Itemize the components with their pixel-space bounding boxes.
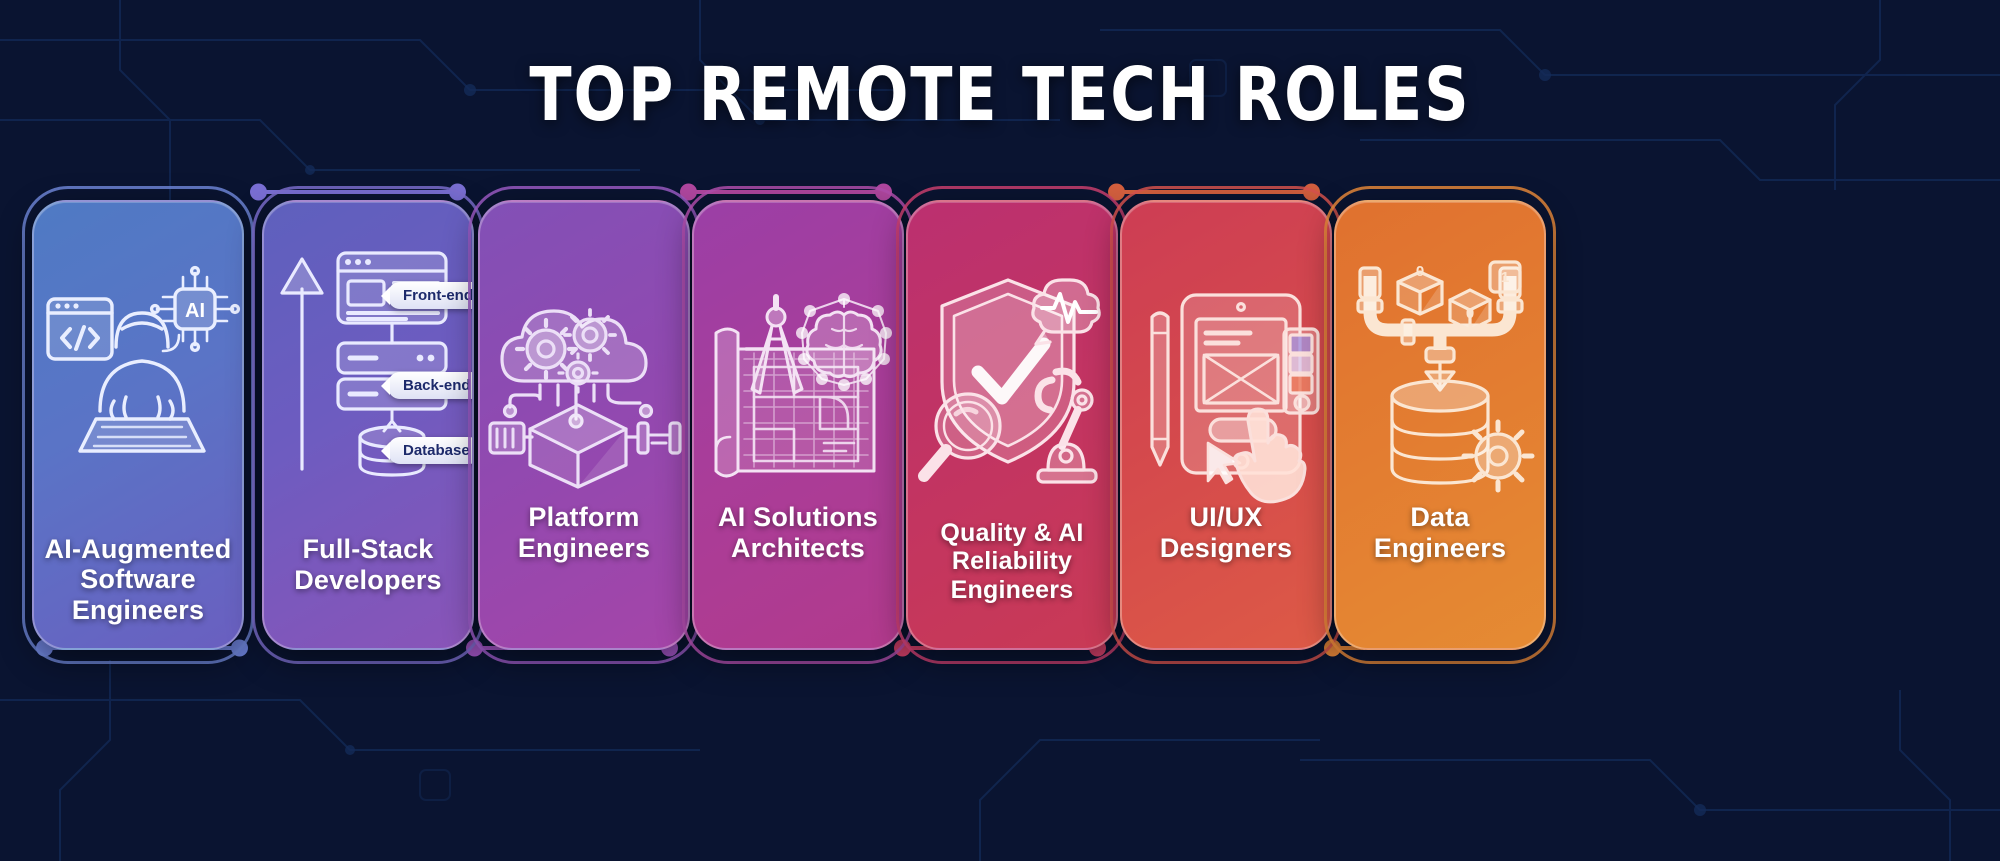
card-label: Platform Engineers — [518, 502, 650, 626]
card-label-line: Architects — [718, 533, 878, 564]
magnifier-icon — [924, 394, 1000, 476]
connector-dot-left — [250, 184, 267, 201]
card-label: UI/UX Designers — [1160, 502, 1292, 626]
card-body: UI/UX Designers — [1120, 200, 1332, 650]
card-label-line: Quality & AI — [940, 519, 1083, 548]
card-body: Platform Engineers — [478, 200, 690, 650]
card-ai-solutions-architects[interactable]: AI Solutions Architects — [692, 200, 904, 650]
card-body: AI AI-Augmented Software Engineers — [32, 200, 244, 650]
card-label-line: Engineers — [1374, 533, 1506, 564]
blueprint-compass-and-neural-brain-icon — [694, 268, 902, 498]
card-label-line: Engineers — [940, 576, 1083, 605]
card-body: Front-end Back-end Database Full-Stack D… — [262, 200, 474, 650]
shield-check-with-magnifier-and-robot-arm-icon — [908, 260, 1116, 500]
cube-digit: 0 — [1466, 305, 1474, 322]
card-label: AI-Augmented Software Engineers — [45, 534, 232, 626]
card-ui-ux-designers[interactable]: UI/UX Designers — [1120, 200, 1332, 650]
tablet-wireframe-with-stylus-and-cursor-icon — [1122, 268, 1330, 498]
roles-card-row: AI AI-Augmented Software Engineers — [22, 200, 1978, 650]
badge-label: Database — [403, 442, 470, 459]
card-label-line: Data — [1374, 502, 1506, 533]
card-label-line: Engineers — [518, 533, 650, 564]
cube-container-icon — [530, 405, 626, 487]
card-label-line: Engineers — [45, 595, 232, 626]
card-label-line: Software — [45, 564, 232, 595]
card-label-line: Reliability — [940, 547, 1083, 576]
badge-label: Back-end — [403, 377, 471, 394]
card-label: Quality & AI Reliability Engineers — [940, 519, 1083, 627]
ai-chip-label: AI — [185, 300, 205, 322]
code-window-icon — [48, 299, 112, 359]
card-ai-augmented-software-engineers[interactable]: AI AI-Augmented Software Engineers — [32, 200, 244, 650]
data-pipeline-with-database-icon: 0 0 1 — [1336, 258, 1544, 498]
card-label-line: Developers — [294, 565, 442, 596]
developer-at-keyboard-with-ai-chip-icon: AI — [34, 236, 242, 476]
page-title: TOP REMOTE TECH ROLES — [70, 52, 1930, 138]
card-label-line: UI/UX — [1160, 502, 1292, 533]
card-body: AI Solutions Architects — [692, 200, 904, 650]
card-label-line: AI Solutions — [718, 502, 878, 533]
badge-front-end: Front-end — [388, 282, 474, 309]
card-quality-and-ai-reliability-engineers[interactable]: Quality & AI Reliability Engineers — [906, 200, 1118, 650]
cloud-with-gears-and-container-icon — [480, 272, 688, 492]
gear-icon — [1464, 422, 1532, 490]
card-data-engineers[interactable]: 0 0 1 Data Engineers — [1334, 200, 1546, 650]
cube-digit: 0 — [1416, 263, 1424, 280]
card-label: Full-Stack Developers — [294, 534, 442, 626]
infographic-canvas: TOP REMOTE TECH ROLES — [0, 0, 2000, 861]
card-label-line: AI-Augmented — [45, 534, 232, 565]
badge-database: Database — [388, 437, 474, 464]
card-label: Data Engineers — [1374, 502, 1506, 626]
badge-back-end: Back-end — [388, 372, 474, 399]
pencil-icon — [1152, 313, 1168, 465]
badge-label: Front-end — [403, 287, 473, 304]
keyboard-icon — [80, 419, 204, 451]
card-body: 0 0 1 Data Engineers — [1334, 200, 1546, 650]
card-label-line: Platform — [518, 502, 650, 533]
cube-digit: 1 — [1501, 269, 1509, 286]
card-platform-engineers[interactable]: Platform Engineers — [478, 200, 690, 650]
hands-icon — [111, 397, 173, 419]
color-swatch-icon — [1284, 329, 1318, 413]
card-full-stack-developers[interactable]: Front-end Back-end Database Full-Stack D… — [262, 200, 474, 650]
card-label-line: Full-Stack — [294, 534, 442, 565]
card-label: AI Solutions Architects — [718, 502, 878, 626]
up-arrow-icon — [282, 259, 322, 469]
card-body: Quality & AI Reliability Engineers — [906, 200, 1118, 650]
card-label-line: Designers — [1160, 533, 1292, 564]
